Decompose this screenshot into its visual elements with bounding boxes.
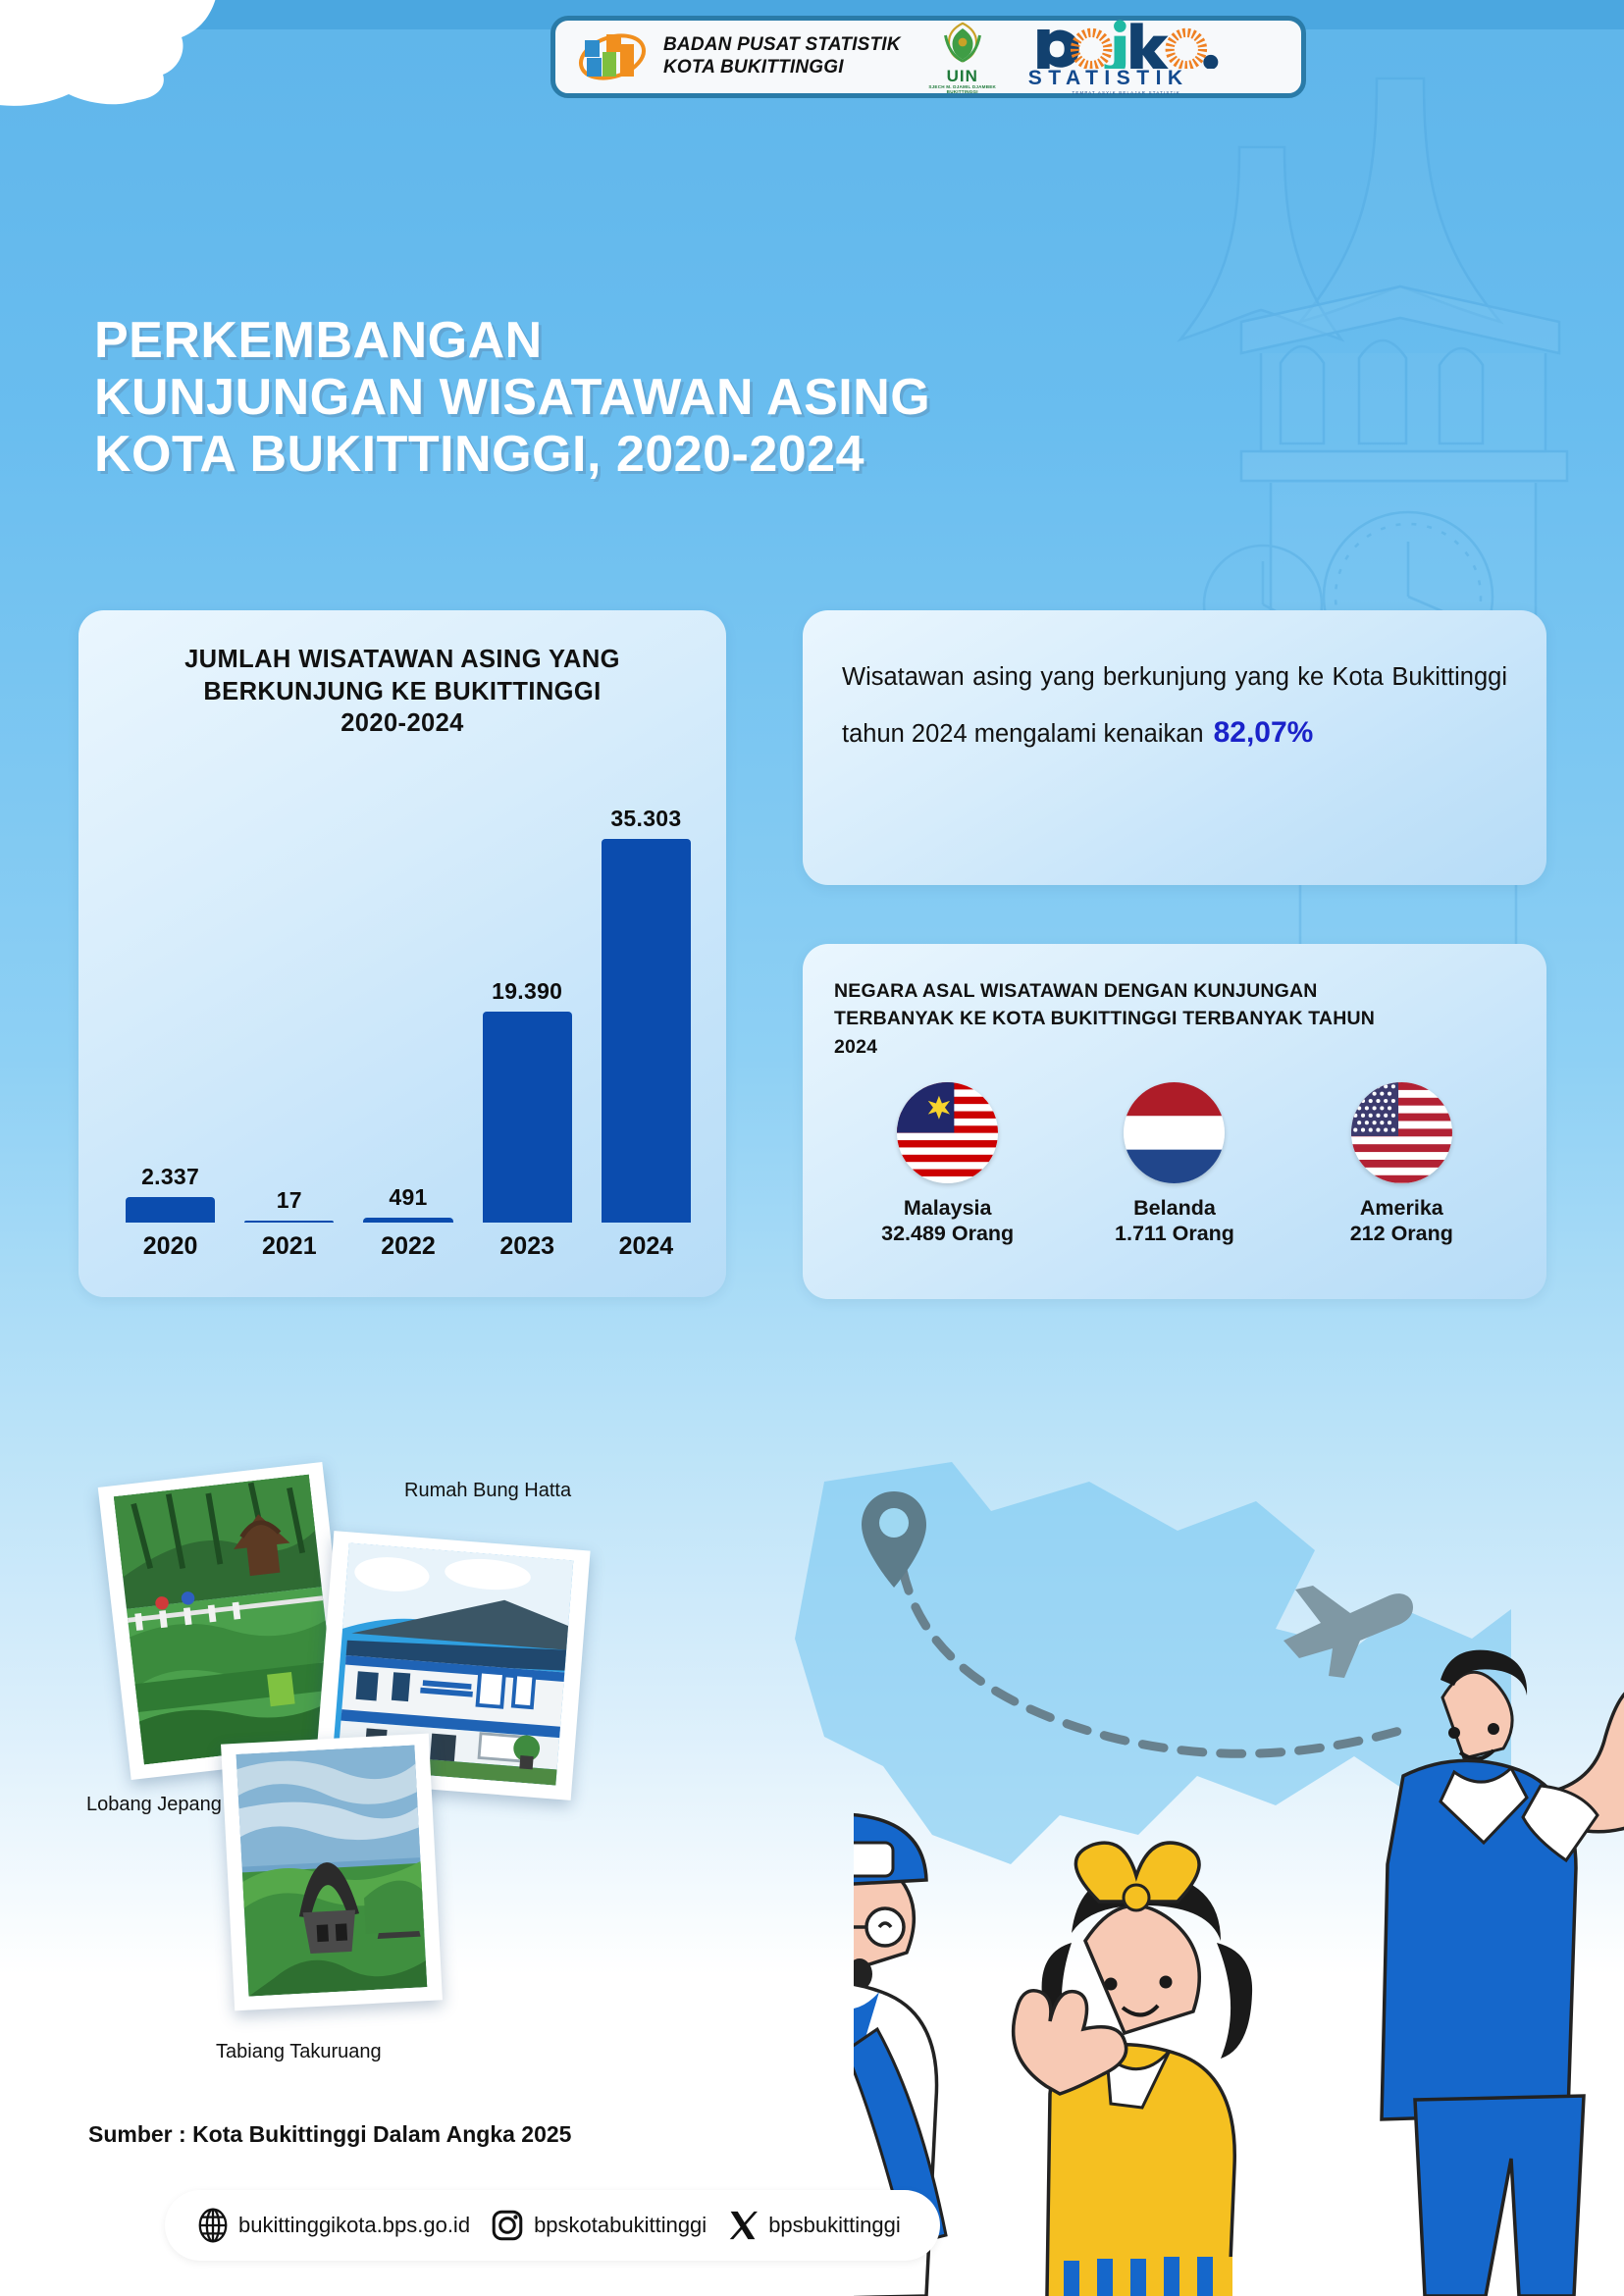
footer-link-x[interactable]: bpsbukittinggi: [728, 2209, 901, 2242]
bar-2022: [363, 1218, 452, 1223]
photo-caption-rumah-bung-hatta: Rumah Bung Hatta: [404, 1480, 571, 1502]
airplane-icon: [1276, 1568, 1423, 1686]
page-title-line3: KOTA BUKITTINGGI, 2020-2024: [94, 426, 1321, 483]
page-title-line1: PERKEMBANGAN: [94, 312, 1321, 369]
bar-chart-plot: 2.3371749119.39035.303: [126, 797, 691, 1223]
country-item-belanda: Belanda1.711 Orang: [1076, 1082, 1273, 1246]
x-tick-2022: 2022: [363, 1232, 452, 1272]
pojok-wordmark-icon: [1028, 20, 1225, 69]
travel-route-dashed-path: [883, 1511, 1492, 1864]
top-countries-card: NEGARA ASAL WISATAWAN DENGAN KUNJUNGAN T…: [803, 944, 1546, 1299]
x-tick-2020: 2020: [126, 1232, 215, 1272]
uin-wordmark: UIN: [926, 68, 999, 84]
footer-link-website-label: bukittinggikota.bps.go.id: [238, 2213, 470, 2238]
chart-card: JUMLAH WISATAWAN ASING YANG BERKUNJUNG K…: [79, 610, 726, 1297]
bar-2023: [483, 1012, 572, 1223]
photo-lobang-jepang: [98, 1462, 355, 1780]
bar-series: 2.3371749119.39035.303: [126, 797, 691, 1223]
bar-column-2022: 491: [363, 797, 452, 1223]
uin-subtitle: SJECH M. DJAMIL DJAMBEK BUKITTINGGI: [926, 84, 999, 94]
bps-title-line2: KOTA BUKITTINGGI: [663, 57, 901, 79]
bar-2020: [126, 1197, 215, 1223]
top-countries-title-line3: 2024: [834, 1033, 1515, 1061]
bps-title-line1: BADAN PUSAT STATISTIK: [663, 34, 901, 57]
tourists-illustration: [854, 1590, 1624, 2296]
footer-link-website[interactable]: bukittinggikota.bps.go.id: [198, 2208, 470, 2243]
footer-link-x-label: bpsbukittinggi: [768, 2213, 901, 2238]
pojok-tagline: TEMPAT ASYIK BELAJAR STATISTIK: [1028, 90, 1225, 95]
footer-link-instagram-label: bpskotabukittinggi: [534, 2213, 707, 2238]
globe-icon: [198, 2208, 228, 2243]
x-twitter-icon: [728, 2209, 758, 2242]
instagram-icon: [492, 2210, 523, 2241]
cloud-shape-icon: [0, 0, 383, 186]
x-axis-tick-labels: 20202021202220232024: [126, 1232, 691, 1272]
x-tick-2023: 2023: [483, 1232, 572, 1272]
photo-tabiang-takuruang-image: [233, 1745, 432, 1997]
jam-gadang-watermark-icon: [1124, 59, 1624, 1040]
pojok-statistik-logo: STATISTIK TEMPAT ASYIK BELAJAR STATISTIK: [1028, 20, 1225, 95]
footer-link-instagram[interactable]: bpskotabukittinggi: [492, 2210, 707, 2241]
malaysia-flag-icon: [897, 1082, 998, 1183]
x-tick-2024: 2024: [602, 1232, 691, 1272]
photo-lobang-jepang-image: [110, 1474, 343, 1765]
bar-value-label-2020: 2.337: [141, 1164, 199, 1190]
pojok-subtitle: STATISTIK: [1028, 67, 1225, 90]
chart-title: JUMLAH WISATAWAN ASING YANG BERKUNJUNG K…: [108, 644, 697, 740]
country-count-belanda: 1.711 Orang: [1076, 1221, 1273, 1246]
country-name-malaysia: Malaysia: [850, 1195, 1046, 1221]
usa-flag-icon: [1351, 1082, 1452, 1183]
uin-logo: UIN SJECH M. DJAMIL DJAMBEK BUKITTINGGI: [926, 22, 999, 92]
chart-title-line1: JUMLAH WISATAWAN ASING YANG: [108, 644, 697, 676]
country-name-belanda: Belanda: [1076, 1195, 1273, 1221]
source-note: Sumber : Kota Bukittinggi Dalam Angka 20…: [88, 2121, 571, 2148]
bar-2024: [602, 839, 691, 1223]
map-pin-icon: [856, 1489, 932, 1592]
highlight-stat-text: Wisatawan asing yang berkunjung yang ke …: [842, 652, 1507, 763]
x-tick-2021: 2021: [244, 1232, 334, 1272]
country-name-amerika: Amerika: [1303, 1195, 1499, 1221]
country-count-amerika: 212 Orang: [1303, 1221, 1499, 1246]
bar-column-2024: 35.303: [602, 797, 691, 1223]
top-countries-title: NEGARA ASAL WISATAWAN DENGAN KUNJUNGAN T…: [834, 977, 1515, 1061]
header-logo-card: BADAN PUSAT STATISTIK KOTA BUKITTINGGI U…: [550, 16, 1306, 98]
top-countries-title-line2: TERBANYAK KE KOTA BUKITTINGGI TERBANYAK …: [834, 1005, 1515, 1032]
bar-column-2021: 17: [244, 797, 334, 1223]
bar-column-2023: 19.390: [483, 797, 572, 1223]
bar-value-label-2024: 35.303: [610, 806, 681, 832]
page-title-line2: KUNJUNGAN WISATAWAN ASING: [94, 369, 1321, 426]
map-silhouette-background: [765, 1442, 1511, 1953]
netherlands-flag-icon: [1124, 1082, 1225, 1183]
country-item-amerika: Amerika212 Orang: [1303, 1082, 1499, 1246]
highlight-stat-sentence: Wisatawan asing yang berkunjung yang ke …: [842, 663, 1507, 748]
highlight-stat-card: Wisatawan asing yang berkunjung yang ke …: [803, 610, 1546, 885]
bar-value-label-2021: 17: [277, 1187, 302, 1214]
photo-tabiang-takuruang: [221, 1734, 443, 2011]
bar-column-2020: 2.337: [126, 797, 215, 1223]
page-title: PERKEMBANGAN KUNJUNGAN WISATAWAN ASING K…: [94, 312, 1321, 484]
footer-social-bar: bukittinggikota.bps.go.id bpskotabukitti…: [165, 2190, 940, 2261]
country-flags-row: Malaysia32.489 OrangBelanda1.711 OrangAm…: [834, 1082, 1515, 1246]
photo-caption-lobang-jepang: Lobang Jepang: [86, 1794, 222, 1816]
bar-value-label-2023: 19.390: [492, 978, 562, 1005]
top-countries-title-line1: NEGARA ASAL WISATAWAN DENGAN KUNJUNGAN: [834, 977, 1515, 1005]
chart-title-line3: 2020-2024: [108, 707, 697, 740]
country-item-malaysia: Malaysia32.489 Orang: [850, 1082, 1046, 1246]
bar-value-label-2022: 491: [389, 1184, 427, 1211]
country-count-malaysia: 32.489 Orang: [850, 1221, 1046, 1246]
photo-caption-tabiang-takuruang: Tabiang Takuruang: [216, 2041, 382, 2063]
bps-logo-icon: [577, 28, 648, 85]
uin-emblem-icon: [935, 22, 990, 63]
bar-2021: [244, 1221, 334, 1223]
highlight-percentage: 82,07%: [1214, 716, 1314, 749]
chart-title-line2: BERKUNJUNG KE BUKITTINGGI: [108, 676, 697, 708]
